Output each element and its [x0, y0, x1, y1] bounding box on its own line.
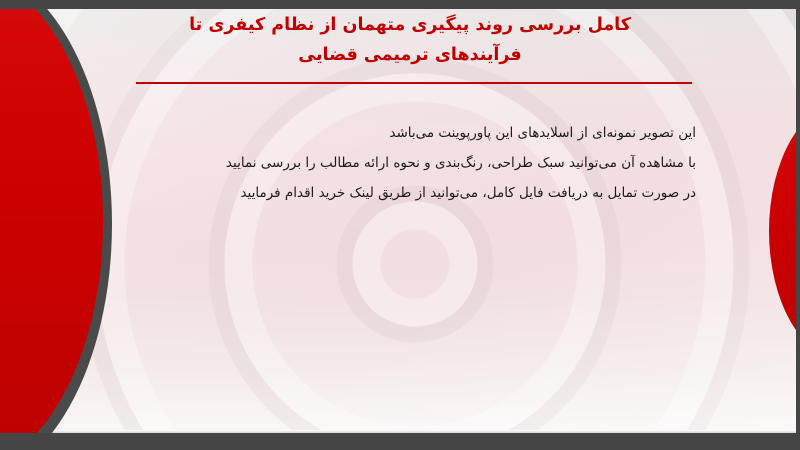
body-line-2: با مشاهده آن می‌توانید سبک طراحی، رنگ‌بن…: [86, 148, 696, 178]
background-sheen-overlay: [0, 9, 800, 433]
slide-frame-bottom-band: [0, 433, 800, 450]
slide-body-text: این تصویر نمونه‌ای از اسلایدهای این پاور…: [86, 118, 696, 208]
slide-frame-top-band: [0, 0, 800, 9]
slide-title: کامل بررسی روند پیگیری متهمان از نظام کی…: [120, 10, 700, 70]
body-line-1: این تصویر نمونه‌ای از اسلایدهای این پاور…: [86, 118, 696, 148]
presentation-slide: کامل بررسی روند پیگیری متهمان از نظام کی…: [0, 0, 800, 450]
slide-title-line-2: فرآیندهای ترمیمی قضایی: [298, 40, 522, 70]
slide-content-panel: [0, 9, 800, 433]
slide-frame-right-band: [796, 0, 800, 450]
background-arc-texture: [0, 9, 800, 433]
slide-title-line-1: کامل بررسی روند پیگیری متهمان از نظام کی…: [120, 10, 700, 40]
title-underline-rule: [136, 82, 692, 84]
body-line-3: در صورت تمایل به دریافت فایل کامل، می‌تو…: [86, 178, 696, 208]
